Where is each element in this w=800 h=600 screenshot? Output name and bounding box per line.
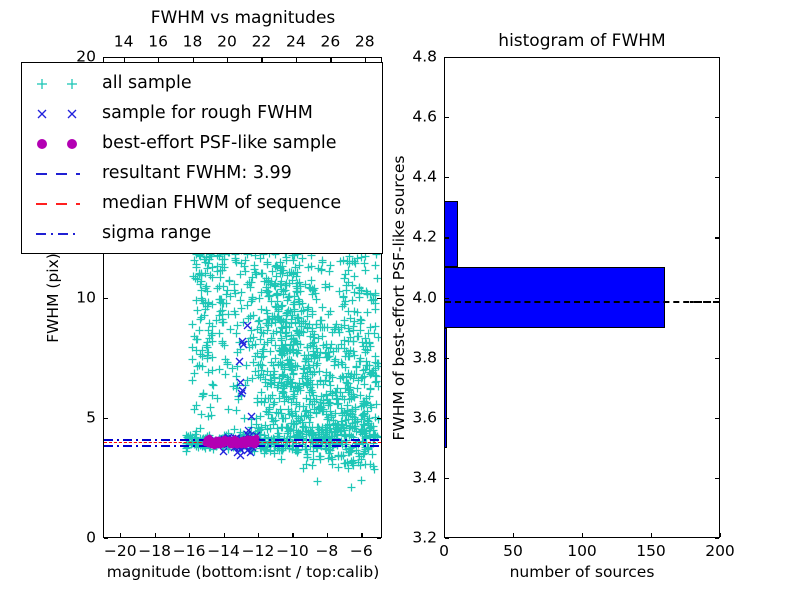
scatter-point-rough-sample [239,340,248,349]
legend-entry-label: median FHWM of sequence [102,195,341,213]
scatter-point-all-sample [339,373,348,382]
scatter-point-all-sample [240,262,249,271]
legend-entry[interactable]: median FHWM of sequence [28,189,372,219]
legend-entry[interactable]: all sample [28,69,372,99]
x-tick-label-top: 20 [217,35,237,51]
scatter-point-all-sample [277,336,286,345]
scatter-point-all-sample [316,452,325,461]
scatter-point-all-sample [361,345,370,354]
x-tick-bottom [155,533,156,537]
scatter-point-rough-sample [235,357,244,366]
x-tick-label-bottom: −14 [207,544,240,560]
legend-marker-dashed-line-icon [28,189,102,219]
legend-marker-dot-icon [28,129,102,159]
x-tick-label-bottom: 0 [439,544,449,560]
scatter-point-all-sample [327,340,336,349]
legend[interactable]: all sample sample for rough FWHM best-ef… [21,62,383,254]
left-yaxis-title: FWHM (pix) [46,253,62,343]
scatter-point-all-sample [360,259,369,268]
y-tick-right-mirror [377,57,381,58]
scatter-point-all-sample [193,362,202,371]
scatter-point-all-sample [277,409,286,418]
scatter-point-all-sample [193,335,202,344]
scatter-point-all-sample [358,428,367,437]
scatter-point-all-sample [318,256,327,265]
x-tick-label-top: 26 [320,35,340,51]
y-tick-right-mirror [715,237,719,238]
scatter-point-all-sample [204,348,213,357]
x-tick-label-top: 28 [355,35,375,51]
legend-marker-cross-icon [28,99,102,129]
legend-entry[interactable]: best-effort PSF-like sample [28,129,372,159]
scatter-point-psf-sample [226,438,233,445]
scatter-point-all-sample [312,320,321,329]
scatter-point-all-sample [196,350,205,359]
x-tick-label-bottom: −20 [104,544,137,560]
x-tick-bottom [224,533,225,537]
right-panel-histogram: histogram of FWHM 0501001502003.23.43.63… [400,0,800,600]
x-tick-label-bottom: −16 [173,544,206,560]
scatter-point-all-sample [374,333,381,342]
scatter-point-all-sample [276,358,285,367]
scatter-point-all-sample [206,403,215,412]
x-tick-label-bottom: 50 [503,544,523,560]
scatter-point-all-sample [309,286,318,295]
scatter-point-all-sample [220,263,229,272]
y-tick-label-left: 5 [86,410,96,426]
scatter-point-all-sample [200,311,209,320]
y-tick-left [445,478,449,479]
scatter-point-all-sample [226,325,235,334]
x-tick-label-bottom: 150 [636,544,666,560]
legend-entry-label: sample for rough FWHM [102,105,313,123]
left-xaxis-title: magnitude (bottom:isnt / top:calib) [107,565,380,581]
y-tick-right-mirror [715,418,719,419]
scatter-point-all-sample [267,334,276,343]
scatter-point-all-sample [349,392,358,401]
y-tick-label-left: 4.2 [412,230,437,246]
scatter-point-all-sample [293,284,302,293]
legend-entry-label: all sample [102,75,192,93]
right-plot-frame [444,57,720,538]
y-tick-label-left: 3.2 [412,530,437,546]
y-tick-left [445,117,449,118]
y-tick-label-left: 3.6 [412,410,437,426]
legend-entry[interactable]: sigma range [28,219,372,249]
x-tick-label-top: 24 [286,35,306,51]
scatter-point-all-sample [305,418,314,427]
y-tick-right-mirror [715,538,719,539]
y-tick-label-left: 4.4 [412,170,437,186]
x-tick-label-bottom: −10 [276,544,309,560]
y-tick-label-left: 3.8 [412,350,437,366]
scatter-point-all-sample [188,320,197,329]
scatter-point-all-sample [357,455,366,464]
scatter-point-all-sample [280,345,289,354]
scatter-point-all-sample [371,261,380,270]
scatter-point-all-sample [363,361,372,370]
scatter-point-rough-sample [237,389,246,398]
x-tick-bottom [720,533,721,537]
x-tick-label-bottom: 100 [567,544,597,560]
x-tick-bottom [361,533,362,537]
x-tick-label-bottom: −18 [138,544,171,560]
scatter-point-all-sample [249,358,258,367]
scatter-point-all-sample [302,460,311,469]
right-panel-title: histogram of FWHM [498,33,665,50]
scatter-point-all-sample [198,392,207,401]
scatter-point-all-sample [254,317,263,326]
x-tick-label-top: 22 [252,35,272,51]
scatter-point-all-sample [348,405,357,414]
figure-canvas: FWHM vs magnitudes [0,0,800,600]
scatter-point-all-sample [209,381,218,390]
scatter-point-all-sample [357,476,366,485]
scatter-point-psf-sample [217,442,224,449]
scatter-point-all-sample [371,305,380,314]
scatter-point-all-sample [195,270,204,279]
y-tick-left [104,298,108,299]
x-tick-bottom [513,533,514,537]
y-tick-right-mirror [715,358,719,359]
scatter-point-all-sample [293,339,302,348]
scatter-point-all-sample [369,462,378,471]
x-tick-label-bottom: −12 [242,544,275,560]
scatter-point-all-sample [204,412,213,421]
scatter-point-all-sample [340,274,349,283]
resultant-fwhm-line [445,301,719,303]
scatter-point-all-sample [226,292,235,301]
scatter-point-all-sample [315,404,324,413]
scatter-point-all-sample [348,296,357,305]
scatter-point-all-sample [200,255,209,264]
left-panel-scatter: FWHM vs magnitudes [0,0,400,600]
scatter-point-all-sample [213,394,222,403]
x-tick-label-top: 14 [114,35,134,51]
scatter-point-all-sample [299,380,308,389]
x-tick-bottom [120,533,121,537]
x-tick-bottom [189,533,190,537]
scatter-point-all-sample [360,372,369,381]
y-tick-right-mirror [377,418,381,419]
x-tick-label-bottom: −6 [350,544,373,560]
x-tick-label-bottom: 200 [705,544,735,560]
scatter-point-all-sample [270,281,279,290]
right-yaxis-title: FWHM of best-effort PSF-like sources [392,155,408,440]
scatter-point-all-sample [224,405,233,414]
scatter-point-all-sample [256,373,265,382]
scatter-point-all-sample [274,303,283,312]
scatter-point-all-sample [262,407,271,416]
scatter-point-all-sample [225,276,234,285]
x-tick-bottom [651,533,652,537]
scatter-point-all-sample [322,368,331,377]
x-tick-bottom [327,533,328,537]
y-tick-right-mirror [715,117,719,118]
scatter-point-all-sample [192,436,201,445]
scatter-point-all-sample [340,321,349,330]
y-tick-left [445,177,449,178]
scatter-point-all-sample [373,274,381,283]
scatter-point-psf-sample [252,440,259,447]
y-tick-label-left: 10 [76,290,96,306]
scatter-point-all-sample [247,278,256,287]
scatter-point-all-sample [218,337,227,346]
y-tick-label-left: 4.8 [412,49,437,65]
y-tick-left [445,237,449,238]
y-tick-left [104,538,108,539]
x-tick-bottom [582,533,583,537]
scatter-point-all-sample [340,300,349,309]
scatter-point-all-sample [347,447,356,456]
legend-entry-label: resultant FWHM: 3.99 [102,165,292,183]
scatter-point-all-sample [343,458,352,467]
scatter-point-all-sample [212,316,221,325]
legend-marker-plus-icon [28,69,102,99]
legend-entry[interactable]: sample for rough FWHM [28,99,372,129]
scatter-point-all-sample [260,449,269,458]
scatter-point-all-sample [313,477,322,486]
scatter-point-all-sample [345,430,354,439]
y-tick-left [445,538,449,539]
scatter-point-all-sample [284,427,293,436]
scatter-point-all-sample [324,352,333,361]
y-tick-left [445,358,449,359]
scatter-point-all-sample [355,283,364,292]
legend-marker-dashed-line-icon [28,159,102,189]
legend-entry-label: sigma range [102,225,211,243]
x-tick-label-bottom: −8 [315,544,338,560]
y-tick-label-left: 4.0 [412,290,437,306]
scatter-point-all-sample [323,323,332,332]
scatter-point-all-sample [215,329,224,338]
scatter-point-all-sample [261,394,270,403]
scatter-point-all-sample [292,400,301,409]
x-tick-label-top: 16 [148,35,168,51]
scatter-point-all-sample [265,292,274,301]
resultant-fwhm-line-tail [690,301,712,303]
scatter-point-all-sample [303,323,312,332]
scatter-point-all-sample [325,282,334,291]
scatter-point-psf-sample [205,438,212,445]
scatter-point-all-sample [289,270,298,279]
scatter-point-all-sample [208,337,217,346]
scatter-point-psf-sample [232,438,239,445]
y-tick-label-left: 0 [86,530,96,546]
scatter-point-all-sample [270,378,279,387]
scatter-point-all-sample [303,450,312,459]
scatter-point-all-sample [203,302,212,311]
scatter-point-all-sample [361,334,370,343]
x-tick-bottom [258,533,259,537]
scatter-point-all-sample [192,401,201,410]
y-tick-label-left: 3.4 [412,470,437,486]
scatter-point-all-sample [333,400,342,409]
scatter-point-all-sample [196,280,205,289]
left-panel-title: FWHM vs magnitudes [151,10,336,27]
scatter-point-rough-sample [247,412,256,421]
scatter-point-all-sample [316,348,325,357]
scatter-point-all-sample [333,423,342,432]
scatter-point-all-sample [365,414,374,423]
y-tick-right-mirror [715,478,719,479]
scatter-point-all-sample [213,284,222,293]
y-tick-left [445,298,449,299]
x-tick-label-top: 18 [183,35,203,51]
y-tick-right-mirror [715,298,719,299]
legend-marker-dashdot-line-icon [28,219,102,249]
x-tick-bottom [444,533,445,537]
y-tick-left [445,57,449,58]
legend-entry[interactable]: resultant FWHM: 3.99 [28,159,372,189]
scatter-point-rough-sample [243,321,252,330]
scatter-point-all-sample [283,309,292,318]
scatter-point-all-sample [247,297,256,306]
right-xaxis-title: number of sources [510,565,655,581]
scatter-point-all-sample [334,452,343,461]
y-tick-right-mirror [377,298,381,299]
scatter-point-all-sample [256,335,265,344]
scatter-point-all-sample [258,347,267,356]
scatter-point-all-sample [352,362,361,371]
scatter-point-all-sample [304,263,313,272]
scatter-point-all-sample [278,262,287,271]
scatter-point-all-sample [356,315,365,324]
scatter-point-all-sample [284,375,293,384]
legend-entry-label: best-effort PSF-like sample [102,135,337,153]
scatter-point-all-sample [260,277,269,286]
y-tick-left [104,418,108,419]
y-tick-label-left: 4.6 [412,109,437,125]
scatter-point-all-sample [325,449,334,458]
scatter-point-all-sample [325,377,334,386]
scatter-point-all-sample [275,446,284,455]
y-tick-left [445,418,449,419]
scatter-point-all-sample [369,426,378,435]
scatter-point-all-sample [318,303,327,312]
scatter-point-all-sample [371,322,380,331]
scatter-point-all-sample [282,318,291,327]
scatter-point-all-sample [305,363,314,372]
scatter-point-all-sample [282,253,291,262]
scatter-point-all-sample [371,291,380,300]
y-tick-right-mirror [377,538,381,539]
scatter-point-all-sample [188,376,197,385]
y-tick-left [104,57,108,58]
scatter-point-all-sample [271,318,280,327]
scatter-point-all-sample [196,424,205,433]
y-tick-right-mirror [715,177,719,178]
x-tick-bottom [292,533,293,537]
scatter-point-all-sample [223,358,232,367]
scatter-point-all-sample [347,483,356,492]
y-tick-right-mirror [715,57,719,58]
scatter-point-all-sample [349,347,358,356]
scatter-point-all-sample [334,463,343,472]
scatter-point-all-sample [317,266,326,275]
scatter-point-all-sample [337,358,346,367]
scatter-point-all-sample [298,254,307,263]
scatter-point-all-sample [280,397,289,406]
scatter-point-all-sample [365,392,374,401]
scatter-point-all-sample [286,361,295,370]
scatter-point-all-sample [306,341,315,350]
